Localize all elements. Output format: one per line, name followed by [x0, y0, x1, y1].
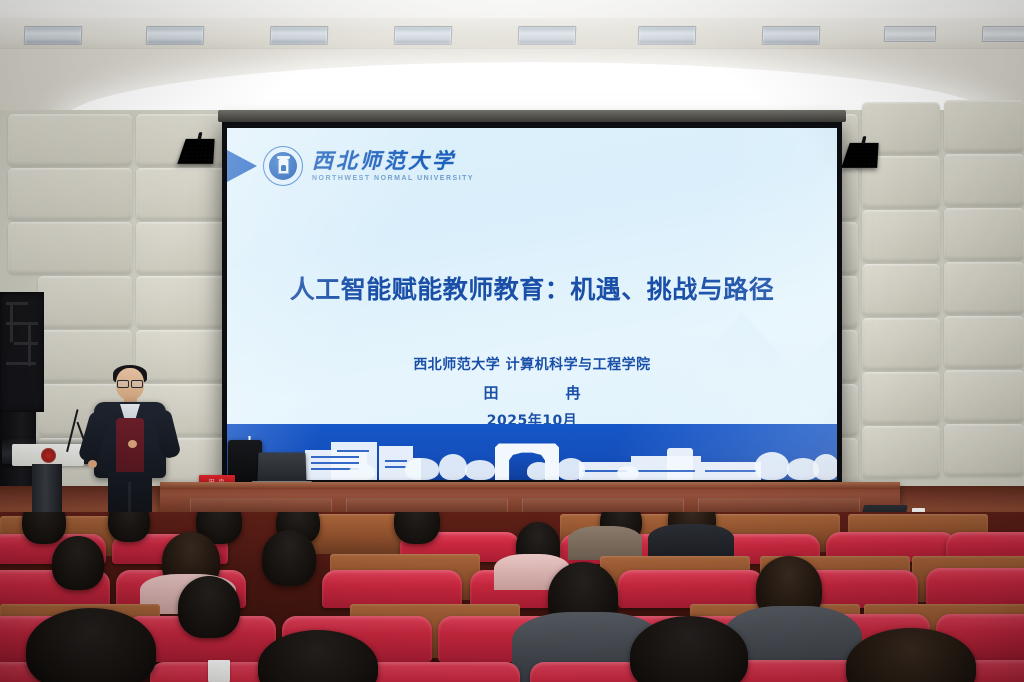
- auditorium-seat: [618, 570, 764, 608]
- ceiling-vent: [884, 26, 937, 42]
- campus-skyline-band: [227, 424, 837, 480]
- presenter-hand: [88, 460, 97, 468]
- audience-shoulders: [568, 526, 642, 560]
- ceiling-vent: [270, 26, 329, 45]
- university-logo: 西北师范大学 NORTHWEST NORMAL UNIVERSITY: [263, 146, 474, 186]
- audience-head: [108, 512, 150, 542]
- lectern-front-plate: [12, 444, 84, 466]
- audience-head: [26, 608, 156, 682]
- ceiling-vent: [24, 26, 83, 45]
- skyline-tree: [557, 458, 585, 480]
- desk-surface: [160, 482, 900, 489]
- wall-panel: [862, 426, 940, 478]
- ceiling-vent: [638, 26, 697, 45]
- wall-panel: [136, 276, 228, 328]
- wall-panel: [862, 210, 940, 262]
- audience-head: [178, 576, 240, 638]
- wall-panel: [944, 316, 1024, 368]
- paper-cup: [208, 660, 230, 682]
- stage-laptop: [257, 452, 306, 482]
- wall-panel: [944, 208, 1024, 260]
- wall-panel: [944, 424, 1024, 476]
- audience-shoulders: [648, 524, 734, 560]
- wall-panel: [136, 168, 228, 220]
- presentation-slide: 西北师范大学 NORTHWEST NORMAL UNIVERSITY 人工智能赋…: [227, 128, 837, 480]
- logo-name-en: NORTHWEST NORMAL UNIVERSITY: [312, 175, 474, 182]
- ceiling-vent: [394, 26, 453, 45]
- wall-panel: [944, 262, 1024, 314]
- blue-triangle-accent: [227, 150, 257, 182]
- wall-panel: [862, 318, 940, 370]
- logo-name-cn: 西北师范大学: [312, 150, 474, 171]
- seal-tower-motif: [279, 159, 288, 173]
- audience-head: [22, 512, 66, 544]
- ceiling-vent: [518, 26, 577, 45]
- skyline-tree: [465, 460, 495, 480]
- seal-inner-disc: [269, 152, 297, 180]
- audience-head: [52, 536, 104, 590]
- decorative-lattice-screen: [0, 292, 44, 412]
- logo-text-block: 西北师范大学 NORTHWEST NORMAL UNIVERSITY: [312, 150, 474, 182]
- right-wall: [836, 110, 1024, 530]
- wall-panel: [944, 370, 1024, 422]
- eyeglasses-icon: [117, 380, 143, 386]
- presenter: [88, 368, 172, 518]
- university-seal-icon: [263, 146, 303, 186]
- skyline-tree: [527, 462, 551, 480]
- slide-title: 人工智能赋能教师教育：机遇、挑战与路径: [227, 270, 837, 306]
- wall-panel: [944, 154, 1024, 206]
- ceiling-vent: [762, 26, 821, 45]
- wall-panel: [38, 276, 132, 328]
- skyline-tree: [405, 458, 439, 480]
- lecture-hall-photo: 西北师范大学 NORTHWEST NORMAL UNIVERSITY 人工智能赋…: [0, 0, 1024, 682]
- ceiling-vent: [982, 26, 1024, 42]
- projection-screen: 西北师范大学 NORTHWEST NORMAL UNIVERSITY 人工智能赋…: [222, 120, 842, 486]
- audience-head: [262, 530, 316, 586]
- presenter-hand: [128, 440, 137, 448]
- wall-panel: [944, 100, 1024, 152]
- wall-panel: [8, 168, 132, 220]
- skyline-building: [667, 448, 693, 480]
- presenter-sweater: [116, 418, 144, 478]
- skyline-tree: [813, 454, 837, 480]
- wall-panel: [8, 114, 132, 166]
- wall-panel: [136, 222, 228, 274]
- skyline-tree: [755, 452, 789, 480]
- wall-panel: [8, 222, 132, 274]
- audience-head: [394, 512, 440, 544]
- skyline-tree: [617, 466, 639, 480]
- auditorium-seat: [926, 568, 1024, 606]
- skyline-tree: [349, 464, 375, 480]
- ceiling-vent: [146, 26, 205, 45]
- wall-panel: [862, 264, 940, 316]
- university-crest-icon: [41, 448, 56, 463]
- auditorium-seat: [322, 570, 462, 608]
- wall-panel: [862, 372, 940, 424]
- audience-seating: [0, 512, 1024, 682]
- skyline-tree: [439, 454, 467, 480]
